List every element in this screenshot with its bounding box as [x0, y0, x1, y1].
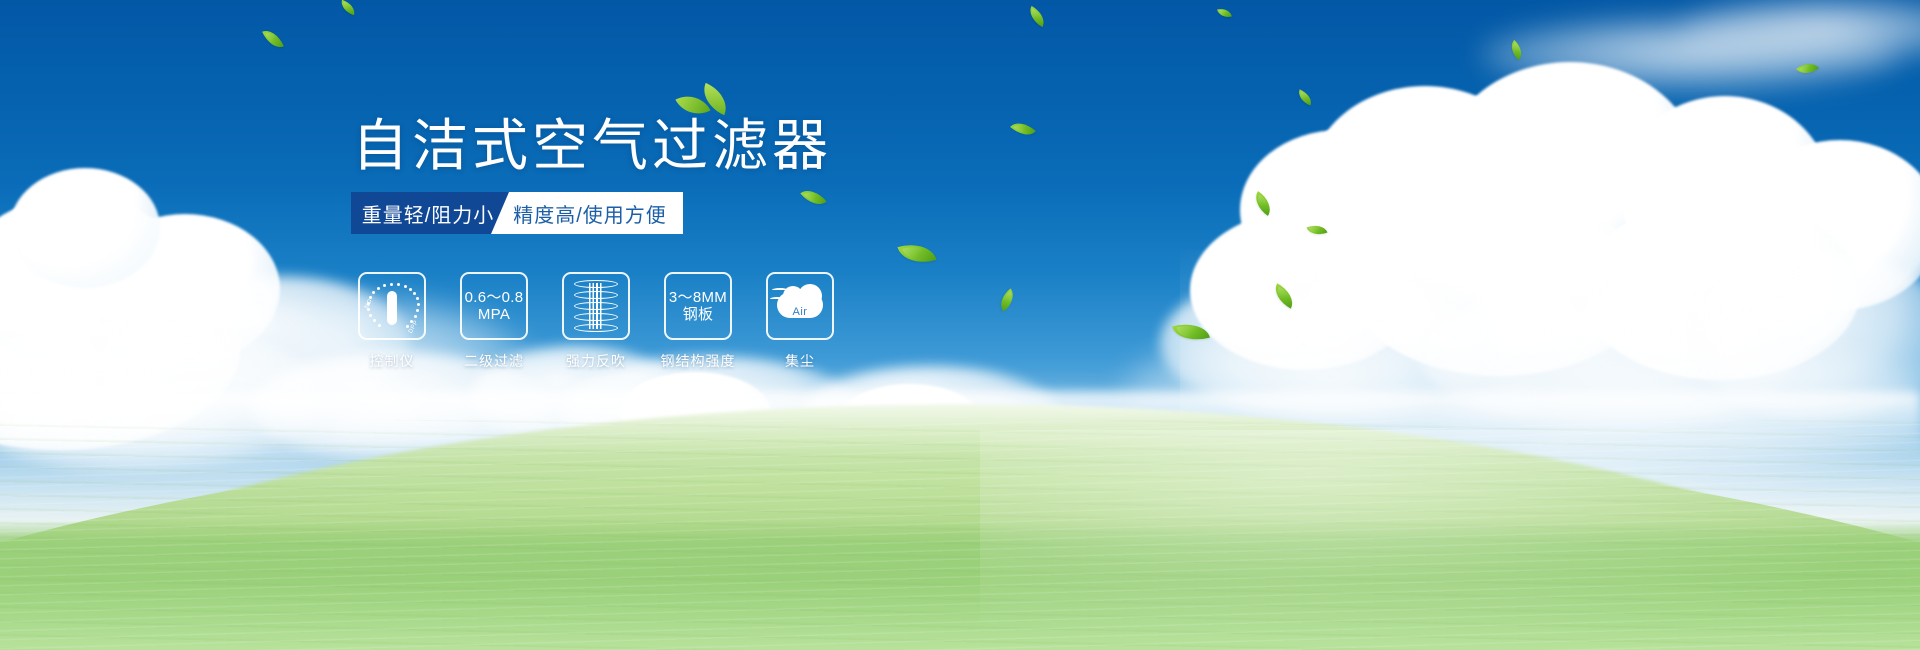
feature-item-steel-strength[interactable]: 3～8MM 钢板 钢结构强度	[664, 272, 732, 371]
feature-list: NO DPP 控制仪 0.6～0.8 MPA 二级过滤	[358, 272, 834, 371]
steel-plate-icon: 3～8MM 钢板	[669, 289, 727, 323]
air-cloud-icon: Air	[774, 284, 826, 328]
pressure-range: 0.6～0.8	[465, 289, 524, 306]
filter-stack-icon	[574, 280, 618, 332]
feature-label-backblow: 强力反吹	[566, 351, 626, 371]
feature-item-dust-collection[interactable]: Air 集尘	[766, 272, 834, 371]
tag-group: 重量轻/阻力小 精度高/使用方便	[351, 192, 683, 234]
feature-item-backblow[interactable]: 强力反吹	[562, 272, 630, 371]
pressure-value-icon: 0.6～0.8 MPA	[465, 289, 524, 323]
gauge-icon: NO DPP	[364, 279, 420, 333]
pressure-unit: MPA	[465, 306, 524, 323]
feature-icon-box: 3～8MM 钢板	[664, 272, 732, 340]
feature-icon-box: 0.6～0.8 MPA	[460, 272, 528, 340]
tag-weight-resistance: 重量轻/阻力小	[351, 192, 509, 234]
gauge-label-no: NO	[364, 298, 374, 310]
air-cloud-label: Air	[774, 306, 826, 318]
hero-banner: 自洁式空气过滤器 重量轻/阻力小 精度高/使用方便	[0, 0, 1920, 650]
page-title: 自洁式空气过滤器	[352, 116, 832, 176]
feature-label-steel-strength: 钢结构强度	[661, 351, 736, 371]
banner-content: 自洁式空气过滤器 重量轻/阻力小 精度高/使用方便	[0, 0, 1920, 650]
feature-icon-box: Air	[766, 272, 834, 340]
steel-thickness: 3～8MM	[669, 289, 727, 306]
feature-label-secondary-filter: 二级过滤	[464, 351, 524, 371]
feature-label-controller: 控制仪	[370, 351, 415, 371]
tag-precision-convenience: 精度高/使用方便	[491, 192, 683, 234]
feature-label-dust-collection: 集尘	[785, 351, 815, 371]
feature-icon-box: NO DPP	[358, 272, 426, 340]
feature-item-controller[interactable]: NO DPP 控制仪	[358, 272, 426, 371]
steel-material: 钢板	[669, 306, 727, 323]
feature-item-secondary-filter[interactable]: 0.6～0.8 MPA 二级过滤	[460, 272, 528, 371]
feature-icon-box	[562, 272, 630, 340]
